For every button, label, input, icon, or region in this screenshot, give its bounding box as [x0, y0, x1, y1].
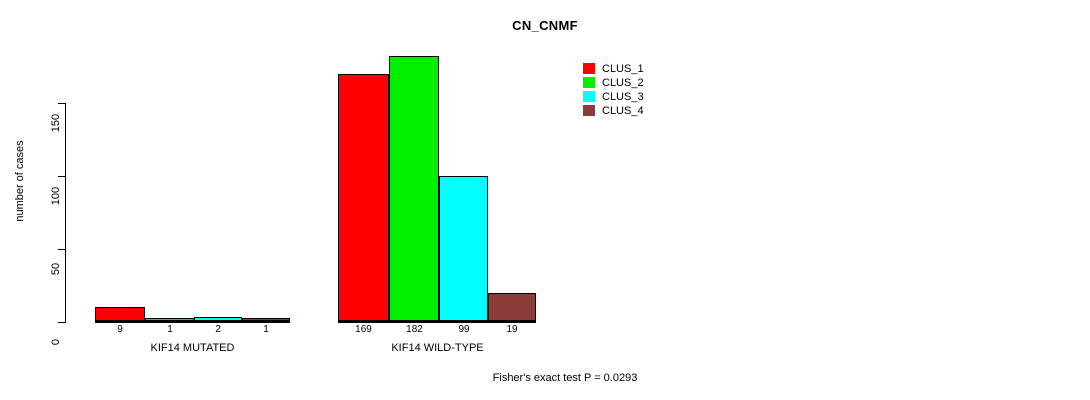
y-tick-label-0: 0 [50, 322, 62, 362]
bar-value-mutated-clus4: 1 [244, 324, 288, 335]
legend-swatch-clus3-icon [583, 91, 595, 102]
bar-mutated-clus2[interactable] [145, 318, 194, 321]
legend-label-clus2: CLUS_2 [602, 77, 644, 89]
baseline-group-mutated [95, 321, 290, 323]
y-tick-label-150: 150 [50, 103, 62, 143]
legend-label-clus4: CLUS_4 [602, 105, 644, 117]
plot-area: 150 100 50 0 number of cases 9 1 2 1 KIF… [0, 0, 1090, 400]
bar-mutated-clus3[interactable] [194, 317, 242, 321]
bar-wildtype-clus2[interactable] [389, 56, 439, 321]
legend-swatch-clus2-icon [583, 77, 595, 88]
legend-label-clus3: CLUS_3 [602, 91, 644, 103]
bar-wildtype-clus1[interactable] [338, 74, 389, 321]
bar-mutated-clus1[interactable] [95, 307, 145, 321]
legend-swatch-clus1-icon [583, 63, 595, 74]
bar-value-wildtype-clus2: 182 [392, 324, 437, 335]
legend-label-clus1: CLUS_1 [602, 63, 644, 75]
baseline-group-wildtype [338, 321, 536, 323]
bar-wildtype-clus4[interactable] [488, 293, 536, 321]
bar-mutated-clus4[interactable] [242, 318, 290, 321]
legend-swatch-clus4-icon [583, 105, 595, 116]
bar-value-wildtype-clus1: 169 [341, 324, 386, 335]
bar-value-wildtype-clus3: 99 [442, 324, 486, 335]
y-tick-label-100: 100 [50, 176, 62, 216]
y-tick-label-50: 50 [50, 249, 62, 289]
legend-item-clus1[interactable]: CLUS_1 [583, 62, 644, 75]
bar-value-mutated-clus3: 2 [196, 324, 240, 335]
group-label-wildtype: KIF14 WILD-TYPE [335, 342, 540, 354]
legend: CLUS_1 CLUS_2 CLUS_3 CLUS_4 [583, 62, 644, 118]
y-axis-title: number of cases [14, 121, 26, 241]
statistical-test-note: Fisher's exact test P = 0.0293 [455, 372, 675, 384]
legend-item-clus3[interactable]: CLUS_3 [583, 90, 644, 103]
legend-item-clus4[interactable]: CLUS_4 [583, 104, 644, 117]
chart-canvas: CN_CNMF 150 100 50 0 number of cases 9 1… [0, 0, 1090, 400]
bar-value-mutated-clus1: 9 [98, 324, 142, 335]
y-axis-line [65, 103, 66, 323]
bar-wildtype-clus3[interactable] [439, 176, 488, 321]
legend-item-clus2[interactable]: CLUS_2 [583, 76, 644, 89]
bar-value-wildtype-clus4: 19 [490, 324, 534, 335]
bar-value-mutated-clus2: 1 [148, 324, 192, 335]
group-label-mutated: KIF14 MUTATED [90, 342, 295, 354]
